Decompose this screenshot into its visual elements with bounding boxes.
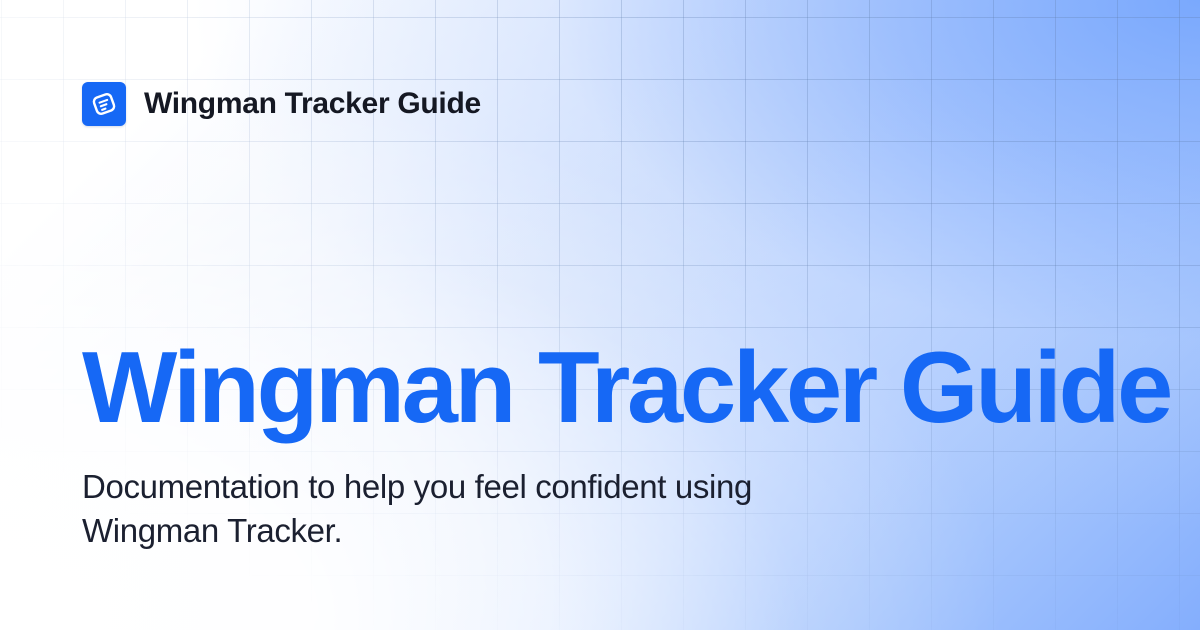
brand-header: Wingman Tracker Guide	[82, 82, 481, 126]
brand-name-label: Wingman Tracker Guide	[144, 89, 481, 119]
hero-section: Wingman Tracker Guide Documentation to h…	[82, 336, 1122, 553]
og-banner-card: Wingman Tracker Guide Wingman Tracker Gu…	[0, 0, 1200, 630]
page-subtitle: Documentation to help you feel confident…	[82, 465, 872, 553]
page-title: Wingman Tracker Guide	[82, 336, 1122, 441]
stacked-document-card-icon	[82, 82, 126, 126]
